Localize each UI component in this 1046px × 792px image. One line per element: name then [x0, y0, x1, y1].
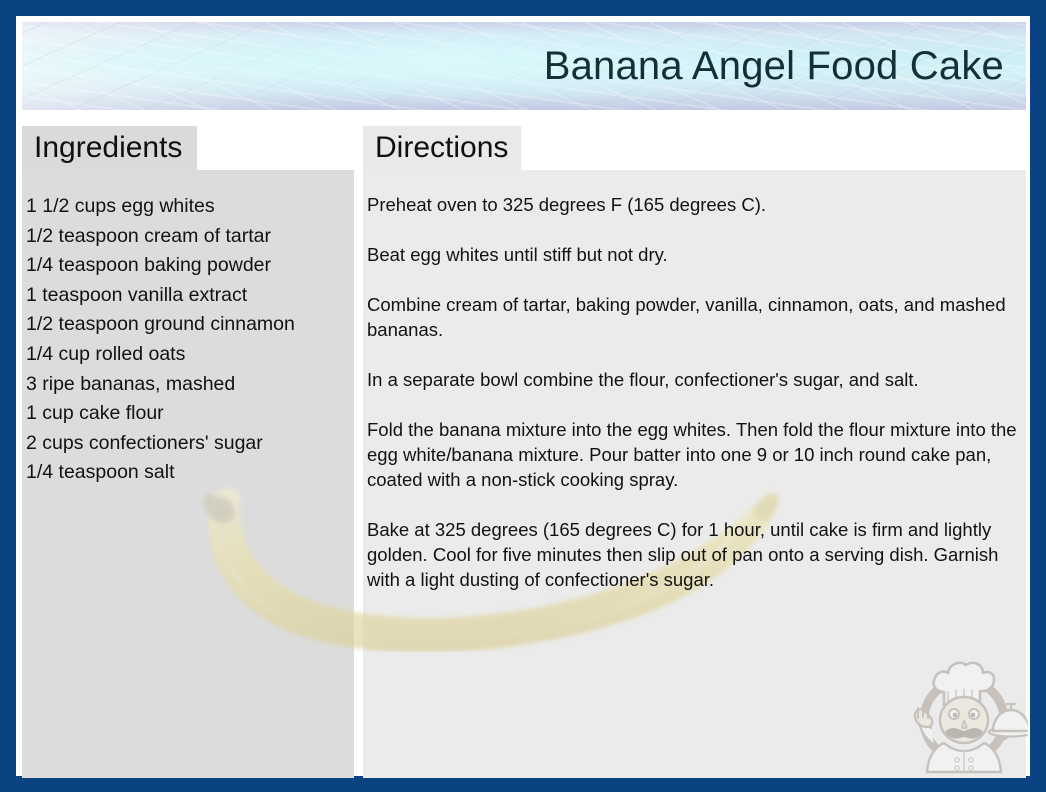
ingredient-item: 1/2 teaspoon ground cinnamon — [26, 310, 346, 340]
direction-step: Fold the banana mixture into the egg whi… — [367, 417, 1019, 492]
ingredient-item: 1 cup cake flour — [26, 399, 346, 429]
direction-step: Combine cream of tartar, baking powder, … — [367, 292, 1019, 342]
ingredient-item: 1/4 teaspoon baking powder — [26, 251, 346, 281]
chef-mascot-logo — [900, 648, 1028, 776]
ingredient-item: 1 1/2 cups egg whites — [26, 192, 346, 222]
recipe-card: Banana Angel Food Cake Ingredients Direc… — [0, 0, 1046, 792]
ingredients-list: 1 1/2 cups egg whites1/2 teaspoon cream … — [26, 192, 346, 488]
ingredient-item: 2 cups confectioners' sugar — [26, 429, 346, 459]
ingredient-item: 1/2 teaspoon cream of tartar — [26, 222, 346, 252]
ingredient-item: 1 teaspoon vanilla extract — [26, 281, 346, 311]
direction-step: Bake at 325 degrees (165 degrees C) for … — [367, 517, 1019, 592]
page-title: Banana Angel Food Cake — [544, 44, 1004, 88]
direction-step: Preheat oven to 325 degrees F (165 degre… — [367, 192, 1019, 217]
direction-step: Beat egg whites until stiff but not dry. — [367, 242, 1019, 267]
direction-step: In a separate bowl combine the flour, co… — [367, 367, 1019, 392]
directions-list: Preheat oven to 325 degrees F (165 degre… — [367, 192, 1019, 592]
directions-heading: Directions — [363, 126, 521, 170]
header-banner: Banana Angel Food Cake — [22, 22, 1026, 110]
ingredient-item: 1/4 cup rolled oats — [26, 340, 346, 370]
ingredient-item: 1/4 teaspoon salt — [26, 458, 346, 488]
ingredient-item: 3 ripe bananas, mashed — [26, 370, 346, 400]
ingredients-heading: Ingredients — [22, 126, 197, 170]
